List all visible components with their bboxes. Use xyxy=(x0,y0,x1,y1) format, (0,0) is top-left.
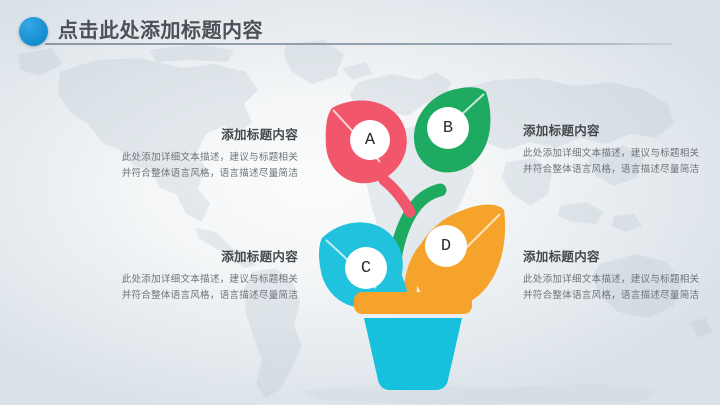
block-desc-bottom-left: 此处添加详细文本描述，建议与标题相关并符合整体语言风格，语言描述尽量简洁 xyxy=(118,272,298,304)
pot-body xyxy=(364,318,462,390)
pot-rim xyxy=(354,292,472,314)
text-block-bottom-left: 添加标题内容 此处添加详细文本描述，建议与标题相关并符合整体语言风格，语言描述尽… xyxy=(118,246,298,304)
plant-in-pot-infographic: A B C D xyxy=(318,80,508,390)
block-desc-top-right: 此处添加详细文本描述，建议与标题相关并符合整体语言风格，语言描述尽量简洁 xyxy=(523,146,705,178)
leaf-b[interactable] xyxy=(414,87,491,172)
header-divider xyxy=(45,43,673,45)
slide-canvas: 点击此处添加标题内容 添加标题内容 此处添加详细文本描述，建议与标题相关并符合整… xyxy=(0,0,720,405)
text-block-top-left: 添加标题内容 此处添加详细文本描述，建议与标题相关并符合整体语言风格，语言描述尽… xyxy=(118,124,298,182)
stem-red xyxy=(384,180,410,212)
block-title-top-left: 添加标题内容 xyxy=(118,124,298,143)
blue-bullet-icon xyxy=(19,17,48,46)
page-title: 点击此处添加标题内容 xyxy=(58,14,263,43)
text-block-top-right: 添加标题内容 此处添加详细文本描述，建议与标题相关并符合整体语言风格，语言描述尽… xyxy=(523,120,705,178)
block-title-top-right: 添加标题内容 xyxy=(523,120,705,139)
leaf-a[interactable] xyxy=(326,101,407,184)
leaf-d[interactable] xyxy=(414,205,505,308)
block-title-bottom-left: 添加标题内容 xyxy=(118,246,298,265)
text-block-bottom-right: 添加标题内容 此处添加详细文本描述，建议与标题相关并符合整体语言风格，语言描述尽… xyxy=(523,246,705,304)
block-desc-top-left: 此处添加详细文本描述，建议与标题相关并符合整体语言风格，语言描述尽量简洁 xyxy=(118,150,298,182)
plant-graphic-svg xyxy=(318,80,508,390)
block-title-bottom-right: 添加标题内容 xyxy=(523,246,705,265)
block-desc-bottom-right: 此处添加详细文本描述，建议与标题相关并符合整体语言风格，语言描述尽量简洁 xyxy=(523,272,705,304)
